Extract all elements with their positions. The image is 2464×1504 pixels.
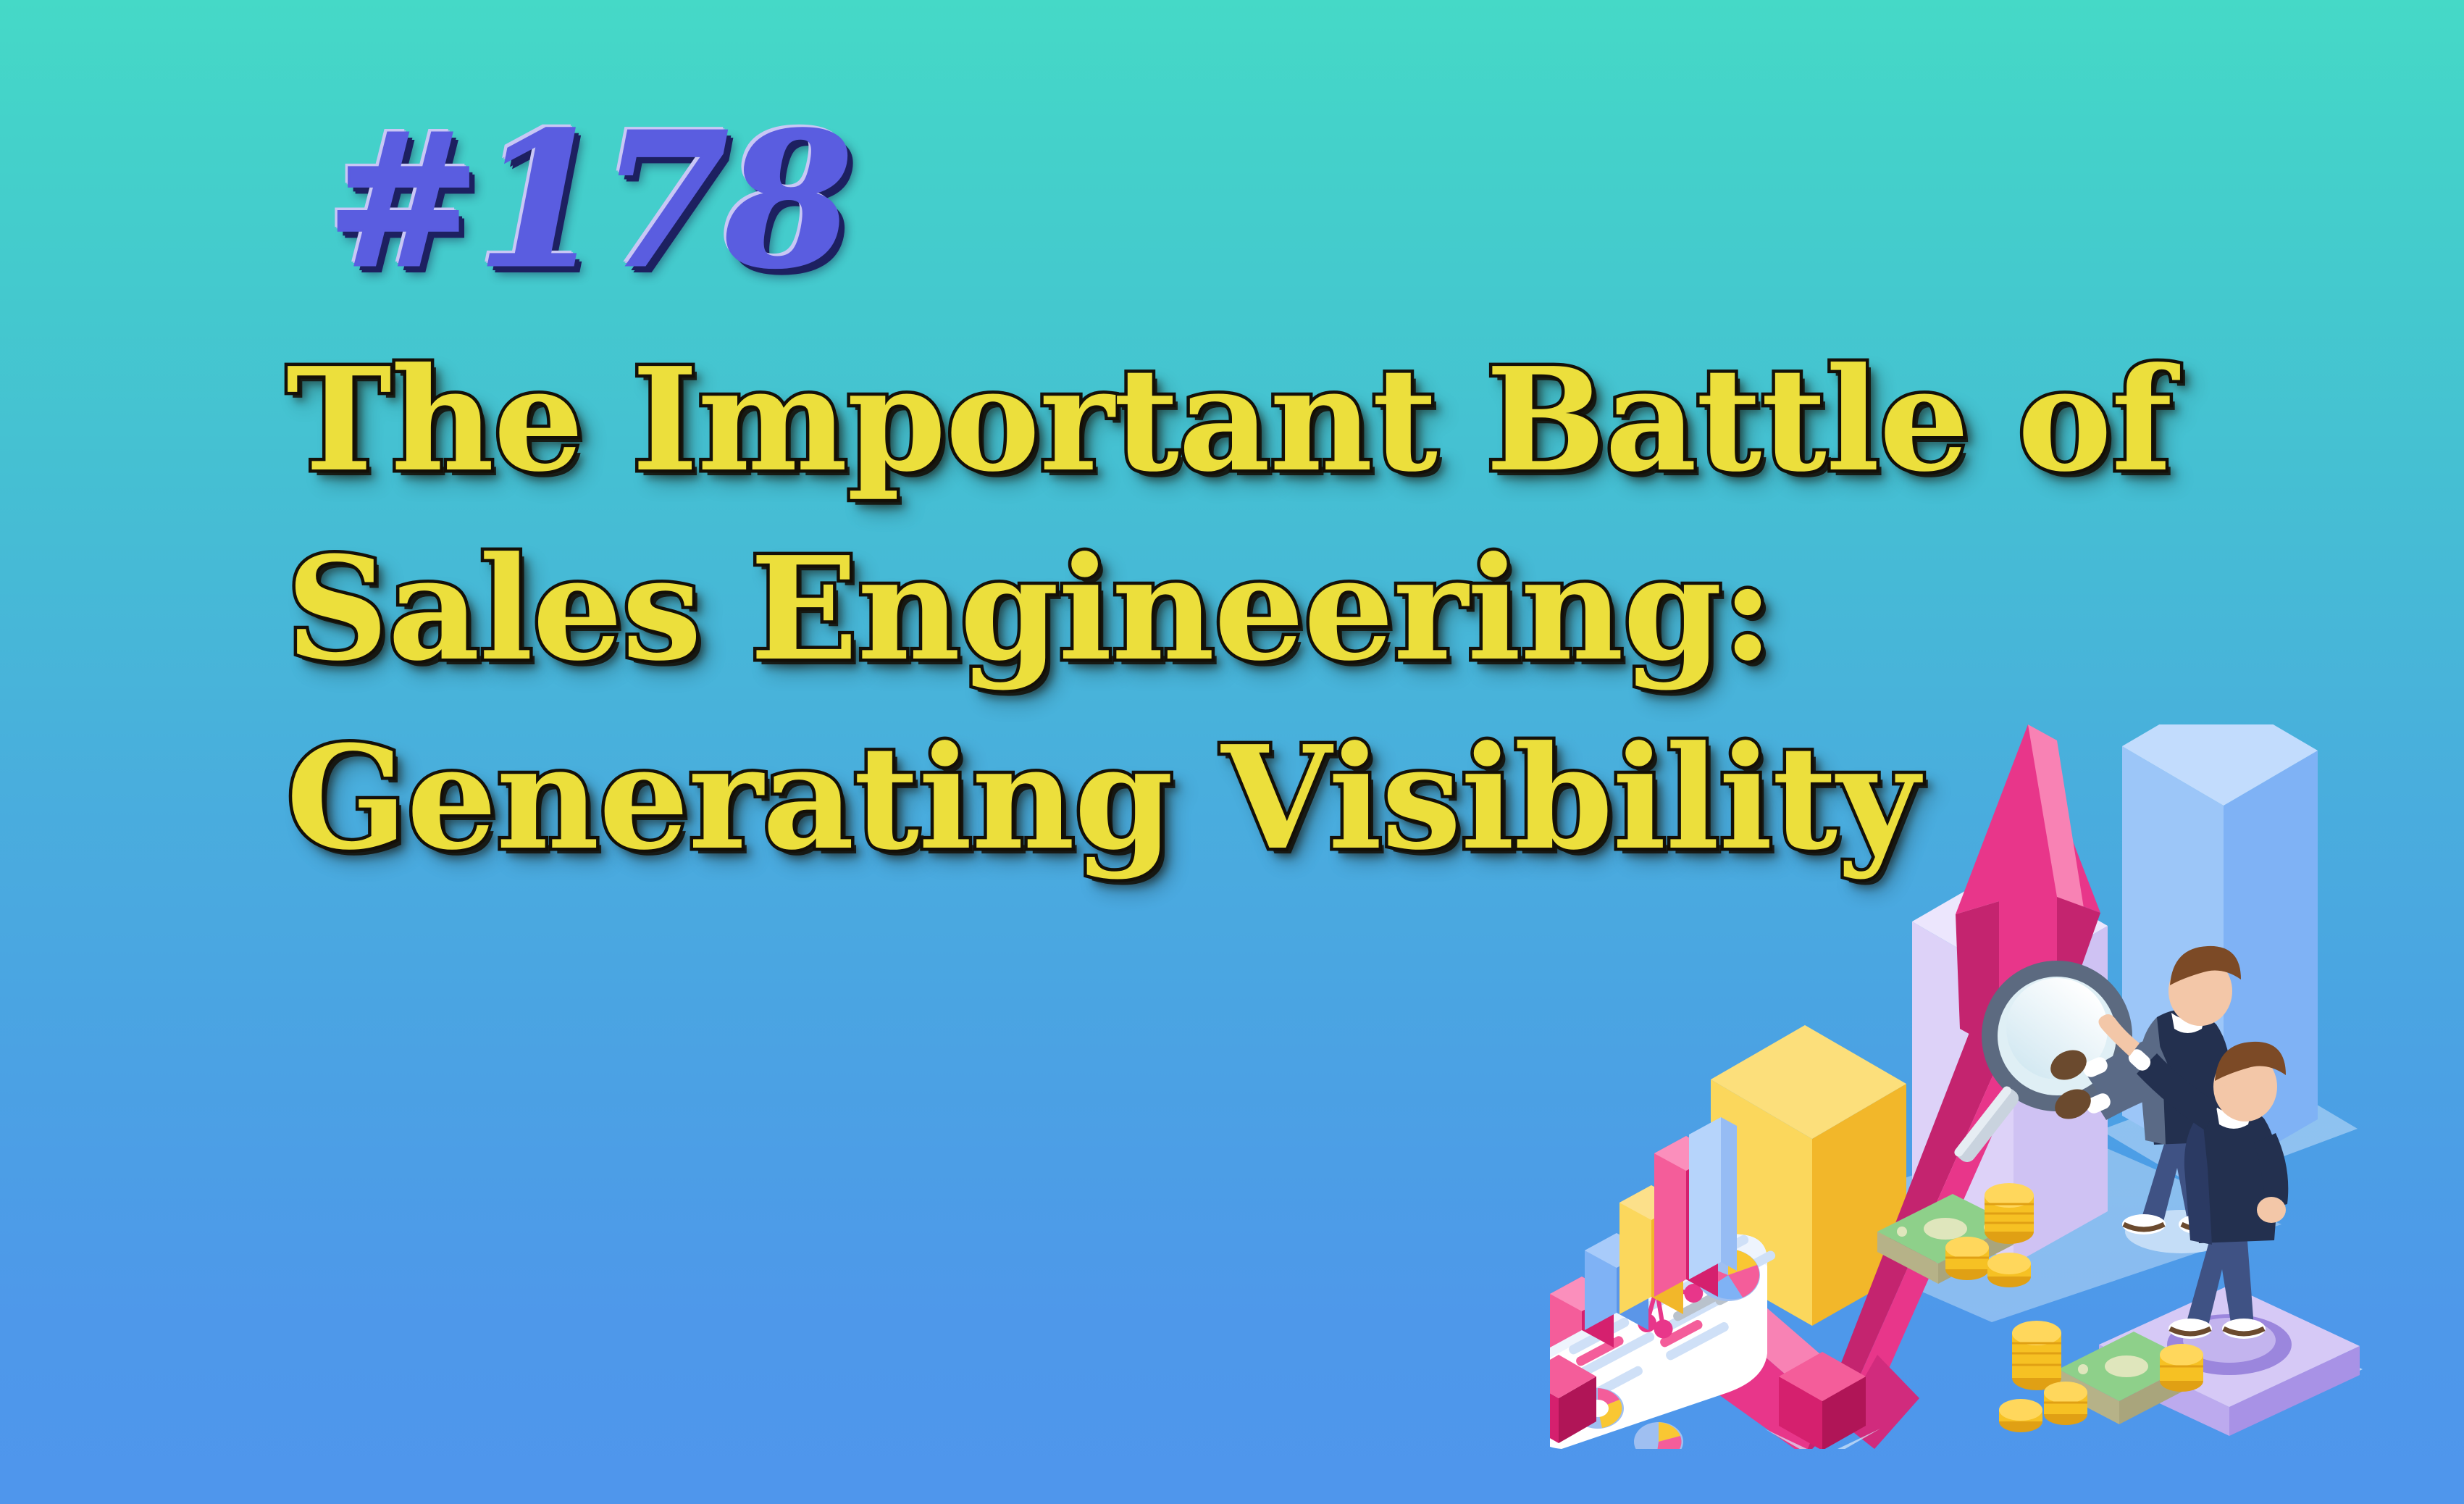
poster-canvas: #178 The Important Battle of Sales Engin…	[0, 0, 2464, 1504]
pie-chart-small	[1634, 1422, 1683, 1449]
title-line-1: The Important Battle of	[286, 328, 1952, 513]
isometric-growth-illustration	[1550, 724, 2405, 1449]
issue-number: #178	[326, 109, 1952, 293]
title-line-2: Sales Engineering:	[286, 517, 1952, 702]
